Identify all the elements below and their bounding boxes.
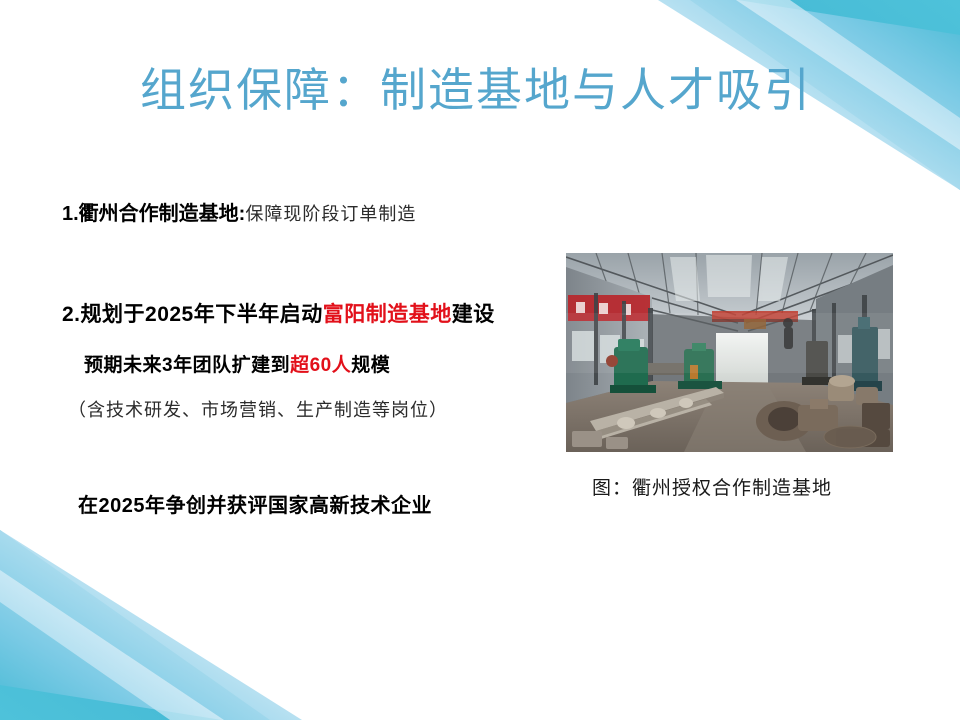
photo-caption: 图：衢州授权合作制造基地: [592, 473, 832, 500]
slide-canvas: 组织保障：制造基地与人才吸引 1.衢州合作制造基地:保障现阶段订单制造 2.规划…: [0, 0, 960, 720]
bullet-2-sub-1-prefix: 预期未来3年团队扩建到: [84, 355, 290, 376]
bullet-2-highlight: 富阳制造基地: [323, 303, 452, 326]
factory-workshop-photo: [566, 253, 893, 452]
bullet-3: 在2025年争创并获评国家高新技术企业: [78, 489, 432, 518]
bullet-2-prefix: 2.规划于2025年下半年启动: [62, 303, 323, 326]
bullet-2-sub-1-suffix: 规模: [351, 355, 390, 376]
bullet-1: 1.衢州合作制造基地:保障现阶段订单制造: [62, 197, 416, 226]
bullet-1-label: 1.衢州合作制造基地:: [62, 203, 245, 225]
bullet-2-sub-2: （含技术研发、市场营销、生产制造等岗位）: [68, 396, 448, 422]
bullet-2: 2.规划于2025年下半年启动富阳制造基地建设: [62, 298, 495, 328]
page-title: 组织保障：制造基地与人才吸引: [140, 62, 812, 120]
bullet-2-suffix: 建设: [452, 303, 495, 326]
diagonal-ribbon-bottom-left-icon: [0, 530, 420, 720]
bullet-1-detail: 保障现阶段订单制造: [245, 204, 416, 224]
bullet-2-sub-1: 预期未来3年团队扩建到超60人规模: [84, 350, 390, 377]
bullet-2-sub-1-highlight: 超60人: [290, 355, 351, 376]
